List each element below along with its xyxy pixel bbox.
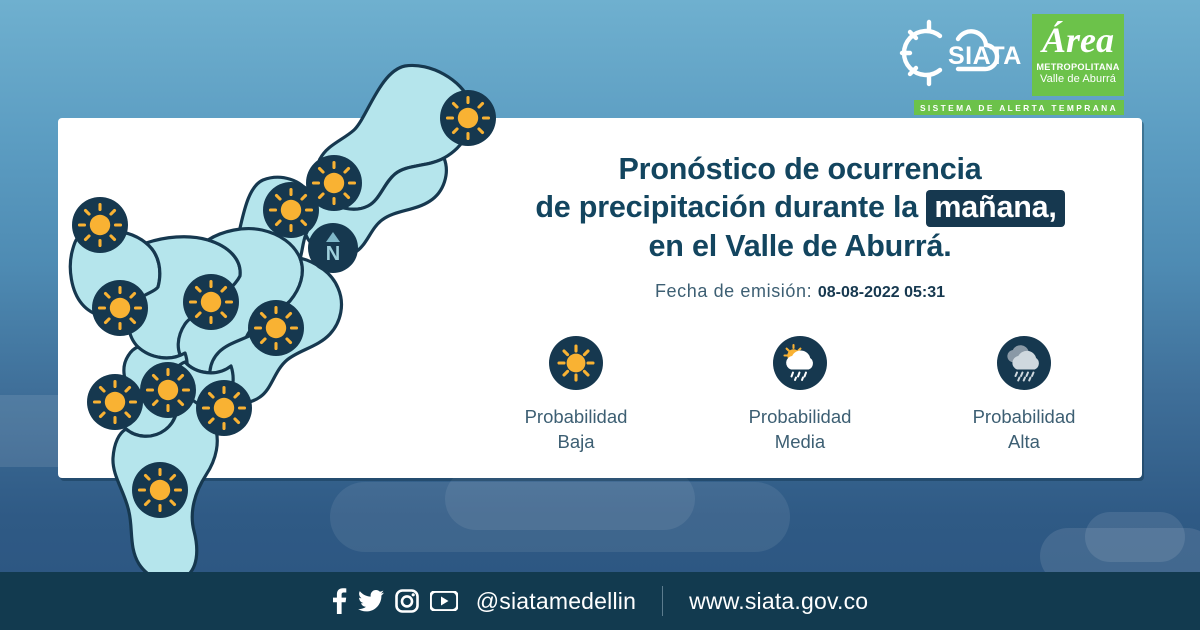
social-links: [332, 588, 458, 614]
emission-line: Fecha de emisión: 08-08-2022 05:31: [480, 281, 1120, 302]
footer-divider: [662, 586, 663, 616]
sun-behind-rain-cloud-icon: [773, 336, 827, 390]
emission-datetime: 08-08-2022 05:31: [818, 284, 945, 301]
legend-label-line1: Probabilidad: [725, 404, 875, 429]
legend-item-media: Probabilidad Media: [725, 336, 875, 454]
legend-label-line2: Media: [725, 429, 875, 454]
footer-bar: @siatamedellin www.siata.gov.co: [0, 572, 1200, 630]
emission-label: Fecha de emisión:: [655, 281, 812, 301]
siata-wordmark: SIATA: [948, 42, 1022, 70]
youtube-icon[interactable]: [430, 591, 458, 611]
title-line-2: de precipitación durante la mañana,: [480, 188, 1120, 227]
background-cloud-right-top: [1085, 512, 1185, 562]
website-url[interactable]: www.siata.gov.co: [689, 588, 868, 615]
map-marker-caldas: [132, 462, 188, 518]
probability-legend: Probabilidad Baja: [480, 336, 1120, 454]
area-script-wordmark: Área: [1036, 16, 1120, 62]
map-marker-itagui: [140, 362, 196, 418]
facebook-icon[interactable]: [332, 588, 347, 614]
map-marker-san-pedro: [72, 197, 128, 253]
sun-icon: [549, 336, 603, 390]
title-highlight-manana: mañana,: [926, 190, 1064, 227]
legend-label-baja: Probabilidad Baja: [501, 404, 651, 454]
map-marker-barbosa: [440, 90, 496, 146]
instagram-icon[interactable]: [395, 589, 419, 613]
compass-label: N: [326, 243, 340, 265]
rain-cloud-icon: [997, 336, 1051, 390]
title-line-3: en el Valle de Aburrá.: [480, 227, 1120, 265]
area-line-1: METROPOLITANA: [1036, 62, 1119, 73]
map-marker-sabaneta: [87, 374, 143, 430]
social-handle[interactable]: @siatamedellin: [476, 588, 636, 615]
map-marker-medellin-centro: [248, 300, 304, 356]
area-metropolitana-logo: Área METROPOLITANA Valle de Aburrá: [1032, 14, 1124, 96]
forecast-panel: Pronóstico de ocurrencia de precipitació…: [480, 150, 1120, 454]
legend-label-media: Probabilidad Media: [725, 404, 875, 454]
legend-label-alta: Probabilidad Alta: [949, 404, 1099, 454]
twitter-icon[interactable]: [358, 590, 384, 612]
siata-logo: SIATA: [896, 16, 1026, 95]
legend-label-line1: Probabilidad: [949, 404, 1099, 429]
logo-group: SIATA Área METROPOLITANA Valle de Aburrá…: [896, 14, 1126, 106]
compass-north-icon: N: [308, 223, 358, 273]
page-title: Pronóstico de ocurrencia de precipitació…: [480, 150, 1120, 265]
valle-de-aburra-map: N: [58, 40, 478, 585]
legend-label-line2: Alta: [949, 429, 1099, 454]
legend-label-line1: Probabilidad: [501, 404, 651, 429]
area-line-2: Valle de Aburrá: [1040, 73, 1116, 86]
legend-item-baja: Probabilidad Baja: [501, 336, 651, 454]
infographic-root: N Pronóstico de ocurrencia de precipitac…: [0, 0, 1200, 630]
map-marker-bello: [183, 274, 239, 330]
legend-item-alta: Probabilidad Alta: [949, 336, 1099, 454]
title-line-1: Pronóstico de ocurrencia: [480, 150, 1120, 188]
title-line-2-text: de precipitación durante la: [535, 190, 918, 224]
map-marker-medellin-norte: [92, 280, 148, 336]
legend-label-line2: Baja: [501, 429, 651, 454]
map-marker-la-estrella: [196, 380, 252, 436]
siata-tagline: SISTEMA DE ALERTA TEMPRANA: [914, 100, 1124, 115]
svg-text:Área: Área: [1040, 20, 1114, 60]
map-marker-copacabana: [263, 182, 319, 238]
